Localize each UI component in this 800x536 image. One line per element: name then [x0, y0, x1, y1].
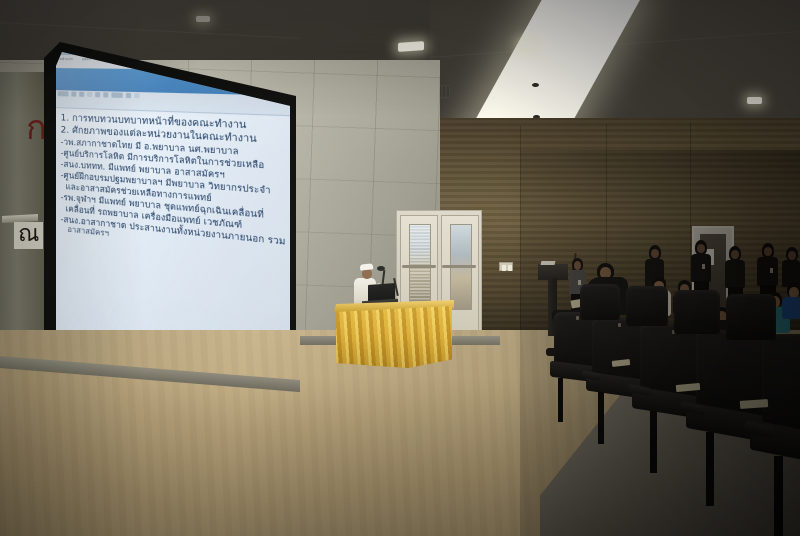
door-push-bar[interactable] [402, 265, 436, 268]
gold-draped-table [336, 306, 452, 368]
door-push-bar[interactable] [442, 265, 476, 268]
text-color-icon[interactable] [126, 93, 131, 98]
align-left-icon[interactable] [95, 92, 100, 97]
downlight-icon [747, 97, 762, 104]
ribbon-tab[interactable]: หน้าแรก [60, 57, 73, 62]
downlight-icon [519, 41, 535, 48]
light-switch-panel[interactable] [499, 262, 513, 271]
conference-room-photo: ก ณ หน้าแรก แทรก ออกแบบ เค้าโครง การอ้าง… [0, 0, 800, 536]
room-sign: ณ [14, 222, 43, 249]
downlight-icon [398, 41, 424, 52]
downlight-icon [196, 16, 210, 22]
font-name-box-icon[interactable] [58, 91, 69, 96]
bullet-list-icon[interactable] [103, 92, 108, 97]
microphone-icon [377, 266, 385, 271]
ribbon-toolbar [58, 91, 140, 98]
seating-area [540, 268, 800, 536]
wall-thai-mark: ก [26, 100, 46, 154]
underline-icon[interactable] [87, 92, 92, 97]
smoke-detector-icon [532, 83, 539, 87]
slide-text-block: 1. การทบทวนบทบาทหน้าที่ของคณะทำงาน 2. ศั… [61, 112, 292, 262]
style-gallery-icon[interactable] [111, 92, 122, 97]
lectern-papers [541, 261, 556, 265]
highlight-icon[interactable] [134, 93, 139, 98]
bold-icon[interactable] [71, 91, 76, 96]
italic-icon[interactable] [79, 92, 84, 97]
